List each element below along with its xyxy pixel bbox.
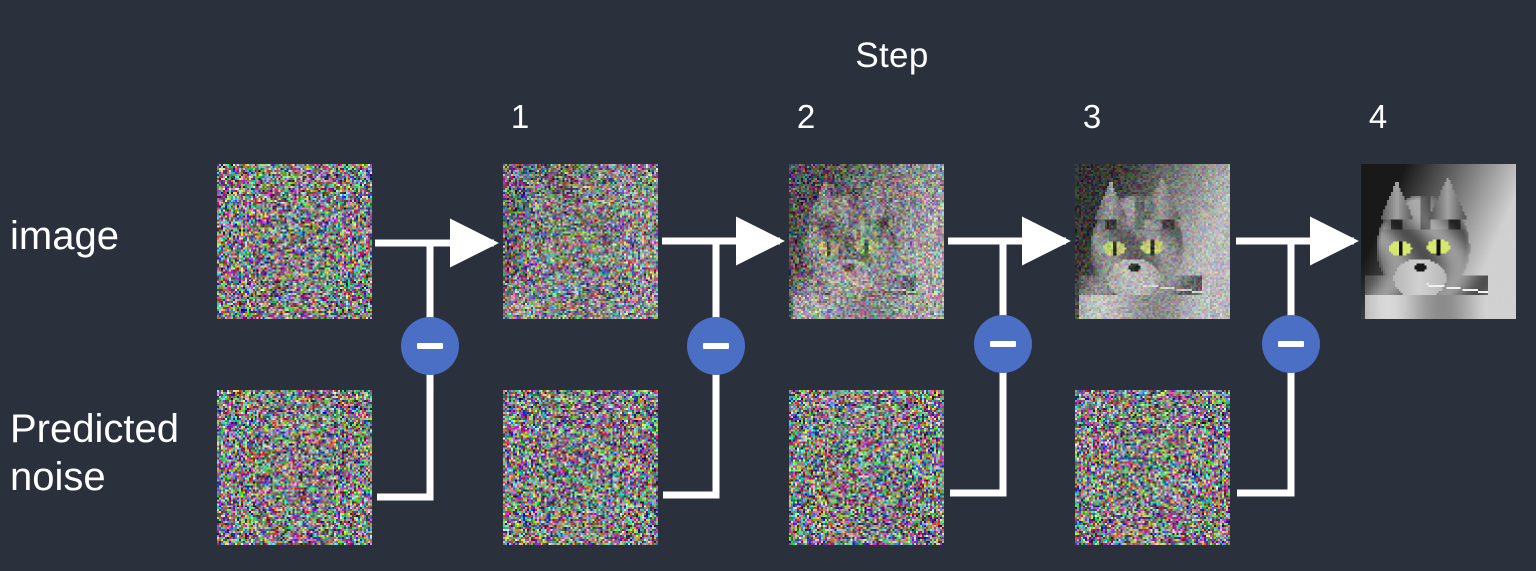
minus-icon <box>417 343 443 349</box>
row-label-image: image <box>10 212 119 260</box>
diffusion-diagram: Step 1 2 3 4 image Predicted noise <box>0 0 1536 571</box>
noise-tile-0 <box>217 390 372 545</box>
step-header-title: Step <box>782 36 1002 76</box>
image-tile-2 <box>789 164 944 319</box>
noise-tile-2 <box>789 390 944 545</box>
subtract-op-4 <box>1262 315 1320 373</box>
subtract-op-2 <box>687 317 745 375</box>
step-number-3: 3 <box>1032 98 1152 136</box>
image-tile-3 <box>1075 164 1230 319</box>
noise-tile-1 <box>503 390 658 545</box>
minus-icon <box>1278 341 1304 347</box>
subtract-op-1 <box>401 317 459 375</box>
image-tile-4 <box>1361 164 1516 319</box>
step-number-4: 4 <box>1318 98 1438 136</box>
minus-icon <box>703 343 729 349</box>
row-label-predicted-noise: Predicted noise <box>10 405 179 501</box>
noise-tile-3 <box>1075 390 1230 545</box>
subtract-op-3 <box>974 315 1032 373</box>
step-number-1: 1 <box>460 98 580 136</box>
image-tile-1 <box>503 164 658 319</box>
image-tile-0 <box>217 164 372 319</box>
minus-icon <box>990 341 1016 347</box>
step-number-2: 2 <box>746 98 866 136</box>
